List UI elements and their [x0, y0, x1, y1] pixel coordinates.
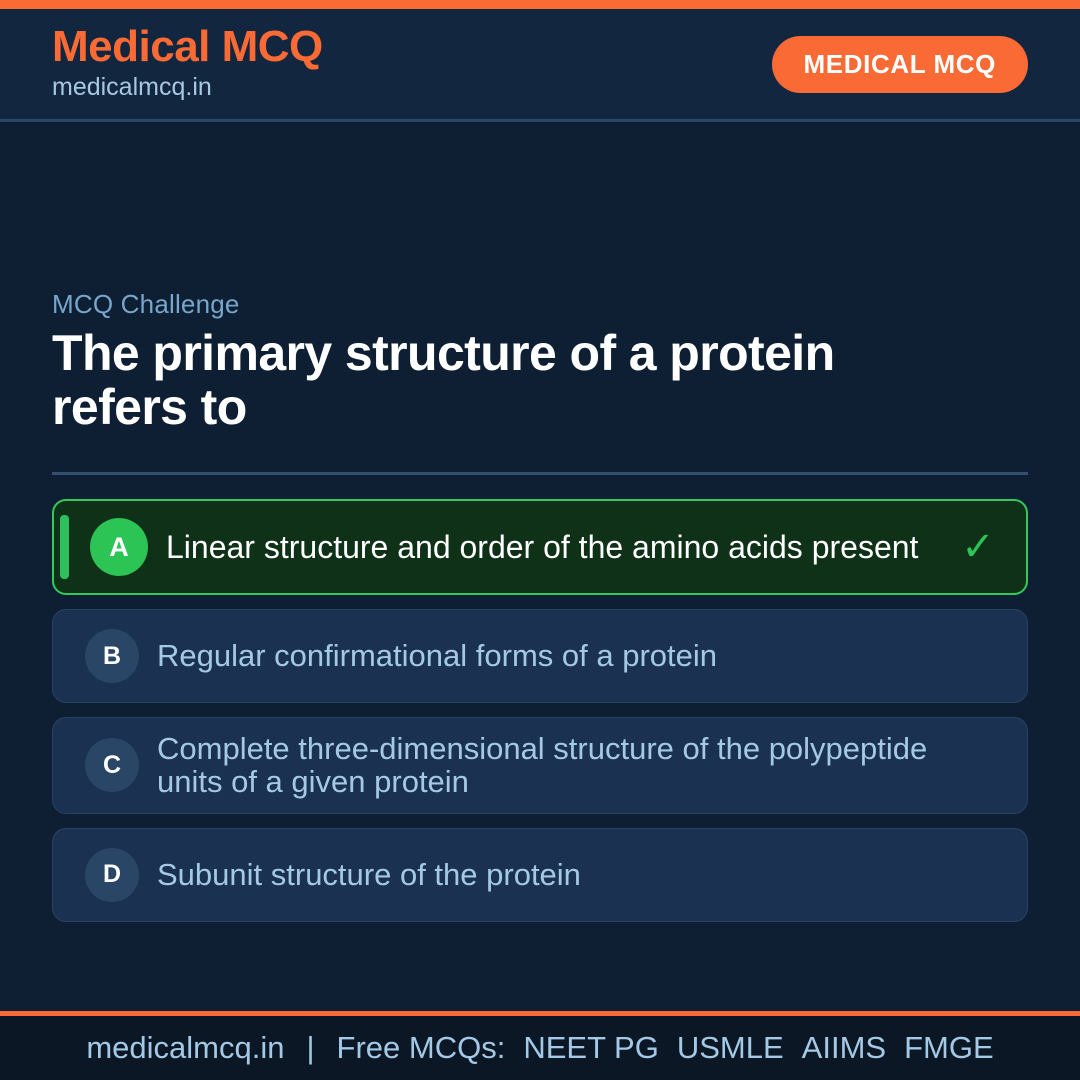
page-footer: medicalmcq.in | Free MCQs: NEET PG USMLE…	[0, 1011, 1080, 1080]
option-a[interactable]: A Linear structure and order of the amin…	[52, 499, 1028, 595]
question-divider	[52, 472, 1028, 475]
question-kicker: MCQ Challenge	[52, 289, 1028, 320]
footer-inner: medicalmcq.in | Free MCQs: NEET PG USMLE…	[86, 1030, 993, 1066]
top-accent-strip	[0, 0, 1080, 9]
footer-exam-usmle: USMLE	[677, 1030, 784, 1066]
option-letter-badge: A	[90, 518, 148, 576]
option-letter-badge: C	[85, 738, 139, 792]
page-header: Medical MCQ medicalmcq.in MEDICAL MCQ	[0, 9, 1080, 122]
header-badge: MEDICAL MCQ	[772, 36, 1028, 93]
main-content: MCQ Challenge The primary structure of a…	[0, 122, 1080, 1011]
option-letter-badge: B	[85, 629, 139, 683]
option-text: Regular confirmational forms of a protei…	[157, 639, 939, 672]
check-icon: ✓	[956, 527, 1000, 567]
option-text: Subunit structure of the protein	[157, 858, 939, 891]
question-zone: MCQ Challenge The primary structure of a…	[52, 289, 1028, 475]
footer-exam-neet-pg: NEET PG	[523, 1030, 659, 1066]
option-text: Linear structure and order of the amino …	[166, 530, 938, 565]
brand-subtitle: medicalmcq.in	[52, 72, 323, 103]
option-text: Complete three-dimensional structure of …	[157, 732, 939, 799]
footer-exam-aiims: AIIMS	[802, 1030, 886, 1066]
option-letter-badge: D	[85, 848, 139, 902]
footer-site: medicalmcq.in	[86, 1030, 284, 1066]
correct-accent-bar	[60, 515, 69, 579]
brand-block: Medical MCQ medicalmcq.in	[52, 24, 323, 103]
option-d[interactable]: D Subunit structure of the protein ✓	[52, 828, 1028, 922]
footer-exam-list: NEET PG USMLE AIIMS FMGE	[523, 1030, 993, 1066]
option-c[interactable]: C Complete three-dimensional structure o…	[52, 717, 1028, 814]
mcq-card: Medical MCQ medicalmcq.in MEDICAL MCQ MC…	[0, 0, 1080, 1080]
options-list: A Linear structure and order of the amin…	[52, 499, 1028, 922]
question-title: The primary structure of a protein refer…	[52, 326, 932, 434]
option-b[interactable]: B Regular confirmational forms of a prot…	[52, 609, 1028, 703]
footer-label: Free MCQs:	[337, 1030, 506, 1066]
brand-title: Medical MCQ	[52, 24, 323, 70]
footer-exam-fmge: FMGE	[904, 1030, 994, 1066]
footer-separator: |	[302, 1030, 318, 1066]
